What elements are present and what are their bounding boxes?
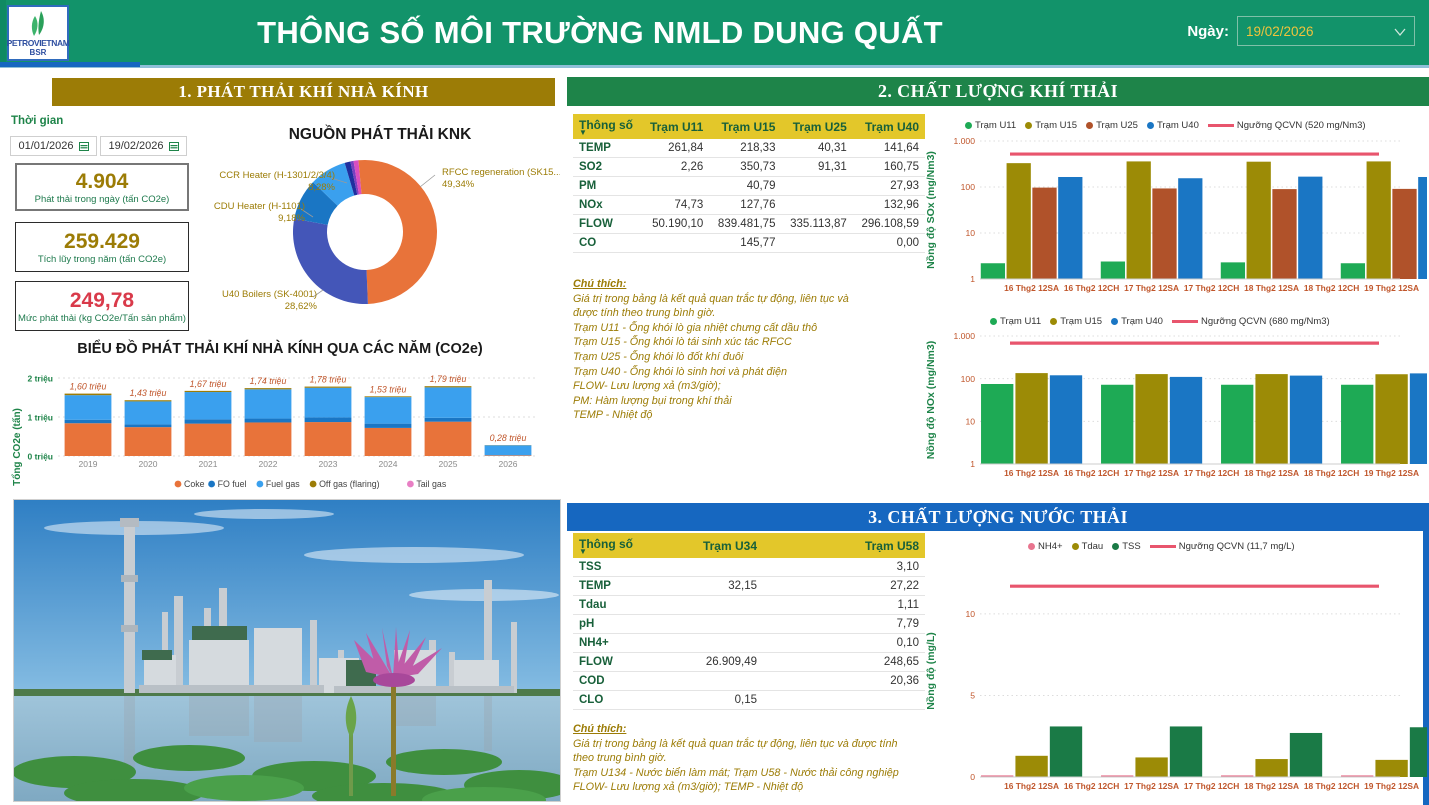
y-axis-tick: 1.000 <box>953 136 975 146</box>
x-axis-tick: 16 Thg2 12CH <box>1064 781 1119 791</box>
logo-text-secondary: BSR <box>30 48 47 57</box>
cell-parameter: TSS <box>573 558 651 577</box>
donut-slice-percent: 49,34% <box>442 179 475 190</box>
header-accent <box>0 0 6 65</box>
cell-value: 335.113,87 <box>781 215 852 234</box>
legend-item[interactable]: Trạm U11 <box>965 120 1016 131</box>
bar[interactable] <box>1272 189 1296 279</box>
table-row[interactable]: CO145,770,00 <box>573 234 925 253</box>
bar-segment[interactable] <box>125 424 172 427</box>
y-axis-tick: 5 <box>970 691 975 701</box>
x-axis-tick: 18 Thg2 12CH <box>1304 283 1359 293</box>
table-row[interactable]: TEMP32,1527,22 <box>573 577 925 596</box>
legend-label: TSS <box>1122 541 1140 552</box>
bar-segment[interactable] <box>185 392 232 419</box>
bar-segment[interactable] <box>245 419 292 423</box>
yearly-ghg-bar-chart[interactable]: 0 triệu1 triệu2 triệuTổng CO2e (tấn)1,60… <box>8 362 553 494</box>
bar[interactable] <box>1375 374 1407 464</box>
cell-value: 261,84 <box>641 139 709 158</box>
donut-slice-percent: 28,62% <box>285 301 318 312</box>
bar[interactable] <box>1101 262 1125 279</box>
legend-item[interactable]: Trạm U15 <box>1025 120 1077 131</box>
refinery-photo-illustration <box>14 500 560 801</box>
x-axis-tick: 2019 <box>79 459 98 469</box>
legend-label[interactable]: FO fuel <box>218 479 247 489</box>
y-axis-title: Nồng độ NOx (mg/Nm3) <box>925 341 937 459</box>
x-axis-tick: 17 Thg2 12CH <box>1184 468 1239 478</box>
kpi-label: Mức phát thải (kg CO2e/Tấn sản phẩm) <box>18 313 186 324</box>
legend-label: Trạm U40 <box>1157 120 1199 131</box>
kpi-card-intensity[interactable]: 249,78 Mức phát thải (kg CO2e/Tấn sản ph… <box>15 281 189 331</box>
note-line: PM: Hàm lượng bụi trong khí thải <box>573 394 928 409</box>
chevron-down-icon <box>1394 26 1406 38</box>
y-axis-title: Tổng CO2e (tấn) <box>11 408 23 486</box>
bar[interactable] <box>981 263 1005 279</box>
legend-swatch <box>1072 543 1079 550</box>
bar[interactable] <box>1101 385 1133 464</box>
bar-segment[interactable] <box>425 422 472 456</box>
col-label: Thông số <box>579 537 633 551</box>
x-axis-tick: 2024 <box>379 459 398 469</box>
legend-swatch <box>1025 122 1032 129</box>
legend-label: NH4+ <box>1038 541 1063 552</box>
legend-label: Ngưỡng QCVN (11,7 mg/L) <box>1179 541 1295 552</box>
note-line: FLOW- Lưu lượng xả (m3/giờ); TEMP - Nhiệ… <box>573 780 928 795</box>
bar-segment[interactable] <box>305 388 352 418</box>
x-axis-tick: 17 Thg2 12SA <box>1124 781 1179 791</box>
bar-total-label: 1,74 triệu <box>250 376 287 386</box>
table-row[interactable]: FLOW50.190,10839.481,75335.113,87296.108… <box>573 215 925 234</box>
cell-value: 74,73 <box>641 196 709 215</box>
legend-item[interactable]: Trạm U15 <box>1050 316 1102 327</box>
logo-text-primary: PETROVIETNAM <box>7 39 70 48</box>
bar-segment[interactable] <box>425 418 472 422</box>
legend-swatch <box>990 318 997 325</box>
table-row[interactable]: TSS3,10 <box>573 558 925 577</box>
nox-concentration-chart[interactable]: 1101001.000Nồng độ NOx (mg/Nm3)16 Thg2 1… <box>922 328 1427 490</box>
cell-value <box>781 177 852 196</box>
legend-swatch <box>1028 543 1035 550</box>
cell-value <box>641 177 709 196</box>
bar-segment[interactable] <box>485 455 532 456</box>
legend-swatch <box>1050 318 1057 325</box>
bar[interactable] <box>1050 375 1082 464</box>
bar[interactable] <box>1015 756 1047 777</box>
kpi-label: Phát thải trong ngày (tấn CO2e) <box>35 194 170 205</box>
legend-label: Trạm U15 <box>1035 120 1077 131</box>
note-line: Trạm U134 - Nước biển làm mát; Trạm U58 … <box>573 766 928 781</box>
bar[interactable] <box>1255 374 1287 464</box>
table-row[interactable]: SO22,26350,7391,31160,75 <box>573 158 925 177</box>
note-line: Giá trị trong bảng là kết quả quan trắc … <box>573 292 928 307</box>
note-line: Trạm U15 - Ống khói lò tái sinh xúc tác … <box>573 335 928 350</box>
cell-parameter: CO <box>573 234 641 253</box>
bar-segment[interactable] <box>65 395 112 420</box>
bar-segment[interactable] <box>185 419 232 423</box>
cell-value: 50.190,10 <box>641 215 709 234</box>
bar[interactable] <box>1127 161 1151 279</box>
y-axis-tick: 10 <box>965 609 975 619</box>
cell-value: 1,11 <box>763 596 925 615</box>
bar-segment[interactable] <box>365 424 412 428</box>
cell-parameter: COD <box>573 672 651 691</box>
bar[interactable] <box>1410 373 1427 464</box>
cell-value: 27,93 <box>853 177 925 196</box>
bar[interactable] <box>1058 177 1082 279</box>
cell-value: 0,15 <box>651 691 763 710</box>
cell-parameter: SO2 <box>573 158 641 177</box>
cell-parameter: PM <box>573 177 641 196</box>
legend-label: Trạm U11 <box>1000 316 1041 327</box>
y-axis-tick: 2 triệu <box>27 374 53 384</box>
bar[interactable] <box>1298 177 1322 279</box>
legend-item-threshold[interactable]: Ngưỡng QCVN (680 mg/Nm3) <box>1172 316 1330 327</box>
legend-swatch <box>175 481 182 488</box>
page-title: THÔNG SỐ MÔI TRƯỜNG NMLD DUNG QUẤT <box>100 12 1100 54</box>
bar-total-label: 0,28 triệu <box>490 433 527 443</box>
col-header-u34[interactable]: Trạm U34 <box>651 533 763 558</box>
cell-parameter: pH <box>573 615 651 634</box>
kpi-value: 4.904 <box>76 170 129 193</box>
section-2-banner: 2. CHẤT LƯỢNG KHÍ THẢI <box>567 77 1429 106</box>
cell-value: 20,36 <box>763 672 925 691</box>
section-3-banner: 3. CHẤT LƯỢNG NƯỚC THẢI <box>567 503 1429 531</box>
table-row[interactable]: FLOW26.909,49248,65 <box>573 653 925 672</box>
legend-item[interactable]: Trạm U40 <box>1111 316 1163 327</box>
legend-swatch <box>1086 122 1093 129</box>
y-axis-title: Nồng độ SOx (mg/Nm3) <box>925 151 937 269</box>
cell-value <box>651 672 763 691</box>
note-line: TEMP - Nhiệt độ <box>573 408 928 423</box>
bar-total-label: 1,43 triệu <box>130 388 167 398</box>
cell-value: 160,75 <box>853 158 925 177</box>
cell-parameter: TEMP <box>573 139 641 158</box>
bar[interactable] <box>1418 177 1427 279</box>
date-filter: Ngày: 19/02/2026 <box>1187 16 1415 46</box>
x-axis-tick: 2020 <box>139 459 158 469</box>
legend-swatch <box>310 481 317 488</box>
donut-slice-label: CDU Heater (H-1101) <box>214 201 305 212</box>
col-header-u40[interactable]: Trạm U40 <box>853 114 925 139</box>
bar-segment[interactable] <box>185 391 232 392</box>
kpi-value: 249,78 <box>70 289 134 312</box>
legend-swatch <box>1147 122 1154 129</box>
legend-label: Tdau <box>1082 541 1104 552</box>
cell-value: 0,00 <box>853 234 925 253</box>
cell-value: 248,65 <box>763 653 925 672</box>
bar-total-label: 1,60 triệu <box>70 382 107 392</box>
bar[interactable] <box>1247 162 1271 279</box>
col-header-param[interactable]: Thông số ▼ <box>573 533 651 558</box>
legend-item[interactable]: Trạm U11 <box>990 316 1041 327</box>
bar[interactable] <box>1221 262 1245 279</box>
bar[interactable] <box>1367 161 1391 279</box>
x-axis-tick: 16 Thg2 12CH <box>1064 468 1119 478</box>
bar-segment[interactable] <box>125 427 172 456</box>
note-line: Giá trị trong bảng là kết quả quan trắc … <box>573 737 928 752</box>
x-axis-tick: 18 Thg2 12SA <box>1244 468 1299 478</box>
cell-value <box>651 596 763 615</box>
air-quality-table[interactable]: Thông số ▼ Trạm U11 Trạm U15 Trạm U25 Tr… <box>573 114 925 253</box>
cell-value: 350,73 <box>709 158 781 177</box>
table-row[interactable]: pH7,79 <box>573 615 925 634</box>
kpi-card-ytd-emission[interactable]: 259.429 Tích lũy trong năm (tấn CO2e) <box>15 222 189 272</box>
cell-value <box>651 634 763 653</box>
bar-segment[interactable] <box>65 420 112 424</box>
bar-segment[interactable] <box>125 400 172 401</box>
col-header-param[interactable]: Thông số ▼ <box>573 114 641 139</box>
bar[interactable] <box>1170 377 1202 464</box>
wastewater-concentration-chart[interactable]: 0510Nồng độ (mg/L)16 Thg2 12SA16 Thg2 12… <box>922 555 1427 803</box>
table-row[interactable]: NOx74,73127,76132,96 <box>573 196 925 215</box>
legend-swatch <box>965 122 972 129</box>
x-axis-tick: 18 Thg2 12SA <box>1244 781 1299 791</box>
note-title: Chú thích: <box>573 723 626 735</box>
cell-value: 91,31 <box>781 158 852 177</box>
donut-leader-line <box>420 175 435 187</box>
bar-segment[interactable] <box>305 387 352 388</box>
cell-value: 839.481,75 <box>709 215 781 234</box>
y-axis-tick: 1 <box>970 459 975 469</box>
note-line: Trạm U25 - Ống khói lò đốt khí đuôi <box>573 350 928 365</box>
x-axis-tick: 19 Thg2 12SA <box>1364 468 1419 478</box>
date-to-value: 19/02/2026 <box>108 140 163 152</box>
x-axis-tick: 2025 <box>439 459 458 469</box>
bar[interactable] <box>1255 759 1287 777</box>
sox-chart-legend[interactable]: Trạm U11Trạm U15Trạm U25Trạm U40Ngưỡng Q… <box>965 120 1366 131</box>
cell-value: 141,64 <box>853 139 925 158</box>
x-axis-tick: 18 Thg2 12CH <box>1304 468 1359 478</box>
table-row[interactable]: CLO0,15 <box>573 691 925 710</box>
x-axis-tick: 16 Thg2 12SA <box>1004 468 1059 478</box>
cell-value: 132,96 <box>853 196 925 215</box>
bar[interactable] <box>1290 376 1322 464</box>
header-underline <box>0 65 1429 68</box>
y-axis-tick: 10 <box>965 417 975 427</box>
kpi-card-daily-emission[interactable]: 4.904 Phát thải trong ngày (tấn CO2e) <box>15 163 189 211</box>
donut-chart-title: NGUỒN PHÁT THẢI KNK <box>240 126 520 144</box>
bar-segment[interactable] <box>305 422 352 456</box>
dashboard-root: PETROVIETNAM BSR THÔNG SỐ MÔI TRƯỜNG NML… <box>0 0 1429 805</box>
y-axis-tick: 10 <box>965 228 975 238</box>
threshold-line-icon <box>1172 320 1198 323</box>
cell-value: 27,22 <box>763 577 925 596</box>
legend-label: Ngưỡng QCVN (680 mg/Nm3) <box>1201 316 1330 327</box>
calendar-icon <box>169 142 179 151</box>
table-header-row: Thông số ▼ Trạm U34 Trạm U58 <box>573 533 925 558</box>
table-row[interactable]: TEMP261,84218,3340,31141,64 <box>573 139 925 158</box>
bar[interactable] <box>1410 727 1427 777</box>
bar[interactable] <box>981 384 1013 464</box>
cell-parameter: Tdau <box>573 596 651 615</box>
section-1-banner: 1. PHÁT THẢI KHÍ NHÀ KÍNH <box>52 78 555 106</box>
date-to-input[interactable]: 19/02/2026 <box>100 136 187 156</box>
time-filter-label: Thời gian <box>11 115 63 127</box>
top-blue-strip <box>0 62 140 67</box>
x-axis-tick: 2021 <box>199 459 218 469</box>
cell-parameter: NOx <box>573 196 641 215</box>
bar-segment[interactable] <box>365 428 412 456</box>
bar[interactable] <box>1221 385 1253 464</box>
legend-swatch <box>1112 543 1119 550</box>
x-axis-tick: 17 Thg2 12CH <box>1184 283 1239 293</box>
legend-item[interactable]: Trạm U40 <box>1147 120 1199 131</box>
cell-value <box>763 691 925 710</box>
calendar-icon <box>79 142 89 151</box>
air-quality-note: Chú thích: Giá trị trong bảng là kết quả… <box>573 277 928 423</box>
cell-value: 127,76 <box>709 196 781 215</box>
bar[interactable] <box>1392 189 1416 279</box>
cell-value <box>781 234 852 253</box>
legend-swatch <box>1111 318 1118 325</box>
note-line: được tính theo trung bình giờ. <box>573 306 928 321</box>
bar-segment[interactable] <box>425 387 472 417</box>
x-axis-tick: 19 Thg2 12SA <box>1364 283 1419 293</box>
bar[interactable] <box>1135 374 1167 464</box>
cell-value: 0,10 <box>763 634 925 653</box>
table-row[interactable]: NH4+0,10 <box>573 634 925 653</box>
bar-total-label: 1,78 triệu <box>310 375 347 385</box>
bar-segment[interactable] <box>65 394 112 396</box>
sox-concentration-chart[interactable]: 1101001.000Nồng độ SOx (mg/Nm3)16 Thg2 1… <box>922 133 1427 305</box>
cell-value: 40,31 <box>781 139 852 158</box>
legend-label[interactable]: Off gas (flaring) <box>319 479 380 489</box>
bar[interactable] <box>1152 188 1176 279</box>
threshold-line-icon <box>1150 545 1176 548</box>
bar-segment[interactable] <box>365 397 412 424</box>
bar[interactable] <box>1170 726 1202 777</box>
cell-value: 32,15 <box>651 577 763 596</box>
legend-swatch <box>407 481 414 488</box>
donut-slice-percent: 8,28% <box>308 182 335 193</box>
x-axis-tick: 2023 <box>319 459 338 469</box>
note-title: Chú thích: <box>573 278 626 290</box>
x-axis-tick: 16 Thg2 12CH <box>1064 283 1119 293</box>
cell-parameter: FLOW <box>573 653 651 672</box>
legend-swatch <box>208 481 215 488</box>
y-axis-tick: 0 triệu <box>27 452 53 462</box>
bar-segment[interactable] <box>245 422 292 456</box>
bar[interactable] <box>1290 733 1322 777</box>
legend-label[interactable]: Tail gas <box>416 479 446 489</box>
legend-swatch <box>257 481 264 488</box>
table-row[interactable]: Tdau1,11 <box>573 596 925 615</box>
cell-value: 26.909,49 <box>651 653 763 672</box>
col-header-u25[interactable]: Trạm U25 <box>781 114 852 139</box>
col-header-u58[interactable]: Trạm U58 <box>763 533 925 558</box>
table-row[interactable]: COD20,36 <box>573 672 925 691</box>
legend-item[interactable]: Tdau <box>1072 541 1104 552</box>
water-quality-note: Chú thích: Giá trị trong bảng là kết quả… <box>573 722 928 795</box>
water-quality-table[interactable]: Thông số ▼ Trạm U34 Trạm U58 TSS3,10TEMP… <box>573 533 925 710</box>
table-row[interactable]: PM40,7927,93 <box>573 177 925 196</box>
y-axis-tick: 0 <box>970 772 975 782</box>
x-axis-tick: 17 Thg2 12SA <box>1124 468 1179 478</box>
cell-parameter: CLO <box>573 691 651 710</box>
cell-value: 40,79 <box>709 177 781 196</box>
ghg-source-donut-chart[interactable]: RFCC regeneration (SK15...49,34%U40 Boil… <box>195 145 560 320</box>
bar-segment[interactable] <box>425 386 472 387</box>
bar-segment[interactable] <box>125 401 172 424</box>
date-select[interactable]: 19/02/2026 <box>1237 16 1415 46</box>
bar[interactable] <box>1341 263 1365 279</box>
cell-value: 7,79 <box>763 615 925 634</box>
donut-slice-percent: 9,18% <box>278 213 305 224</box>
x-axis-tick: 18 Thg2 12SA <box>1244 283 1299 293</box>
bar[interactable] <box>1178 178 1202 279</box>
legend-label[interactable]: Coke <box>184 479 205 489</box>
note-line: Trạm U11 - Ống khói lò gia nhiệt chưng c… <box>573 321 928 336</box>
y-axis-tick: 1 triệu <box>27 413 53 423</box>
threshold-line-icon <box>1208 124 1234 127</box>
legend-label: Ngưỡng QCVN (520 mg/Nm3) <box>1237 120 1366 131</box>
nox-chart-legend[interactable]: Trạm U11Trạm U15Trạm U40Ngưỡng QCVN (680… <box>990 316 1330 327</box>
bar-segment[interactable] <box>485 445 532 455</box>
bar[interactable] <box>1032 188 1056 279</box>
x-axis-tick: 2022 <box>259 459 278 469</box>
legend-label: Trạm U15 <box>1060 316 1102 327</box>
legend-item-threshold[interactable]: Ngưỡng QCVN (11,7 mg/L) <box>1150 541 1295 552</box>
app-header: PETROVIETNAM BSR THÔNG SỐ MÔI TRƯỜNG NML… <box>0 0 1429 65</box>
cell-parameter: NH4+ <box>573 634 651 653</box>
time-range-picker: 01/01/2026 19/02/2026 <box>10 136 187 156</box>
date-from-value: 01/01/2026 <box>18 140 73 152</box>
water-chart-legend[interactable]: NH4+TdauTSSNgưỡng QCVN (11,7 mg/L) <box>1028 541 1295 552</box>
bar-total-label: 1,67 triệu <box>190 379 227 389</box>
col-header-u15[interactable]: Trạm U15 <box>709 114 781 139</box>
refinery-photo <box>13 499 561 802</box>
legend-item[interactable]: Trạm U25 <box>1086 120 1138 131</box>
x-axis-tick: 17 Thg2 12CH <box>1184 781 1239 791</box>
x-axis-tick: 2026 <box>499 459 518 469</box>
bar-segment[interactable] <box>245 389 292 418</box>
col-header-u11[interactable]: Trạm U11 <box>641 114 709 139</box>
cell-value: 296.108,59 <box>853 215 925 234</box>
petrovietnam-bsr-logo: PETROVIETNAM BSR <box>7 5 69 61</box>
kpi-label: Tích lũy trong năm (tấn CO2e) <box>38 254 166 265</box>
cell-value <box>651 615 763 634</box>
donut-slice-label: U40 Boilers (SK-4001) <box>222 289 317 300</box>
bar[interactable] <box>1135 757 1167 777</box>
yearly-chart-title: BIỂU ĐỒ PHÁT THẢI KHÍ NHÀ KÍNH QUA CÁC N… <box>20 341 540 357</box>
x-axis-tick: 16 Thg2 12SA <box>1004 283 1059 293</box>
bar-segment[interactable] <box>65 423 112 456</box>
bar[interactable] <box>1050 726 1082 777</box>
table-header-row: Thông số ▼ Trạm U11 Trạm U15 Trạm U25 Tr… <box>573 114 925 139</box>
note-line: FLOW- Lưu lượng xả (m3/giờ); <box>573 379 928 394</box>
legend-label[interactable]: Fuel gas <box>266 479 300 489</box>
legend-item[interactable]: TSS <box>1112 541 1140 552</box>
bar-segment[interactable] <box>245 388 292 389</box>
bar-total-label: 1,53 triệu <box>370 384 407 394</box>
leaf-icon <box>25 9 51 39</box>
y-axis-title: Nồng độ (mg/L) <box>925 632 937 710</box>
bar[interactable] <box>1341 385 1373 464</box>
x-axis-tick: 17 Thg2 12SA <box>1124 283 1179 293</box>
cell-value: 3,10 <box>763 558 925 577</box>
bar[interactable] <box>1007 163 1031 279</box>
date-from-input[interactable]: 01/01/2026 <box>10 136 97 156</box>
bar[interactable] <box>1015 373 1047 464</box>
legend-item-threshold[interactable]: Ngưỡng QCVN (520 mg/Nm3) <box>1208 120 1366 131</box>
y-axis-tick: 100 <box>961 374 976 384</box>
legend-item[interactable]: NH4+ <box>1028 541 1063 552</box>
bar[interactable] <box>1375 760 1407 777</box>
bar-segment[interactable] <box>305 417 352 422</box>
legend-label: Trạm U25 <box>1096 120 1138 131</box>
bar-segment[interactable] <box>365 396 412 397</box>
bar-segment[interactable] <box>185 424 232 456</box>
